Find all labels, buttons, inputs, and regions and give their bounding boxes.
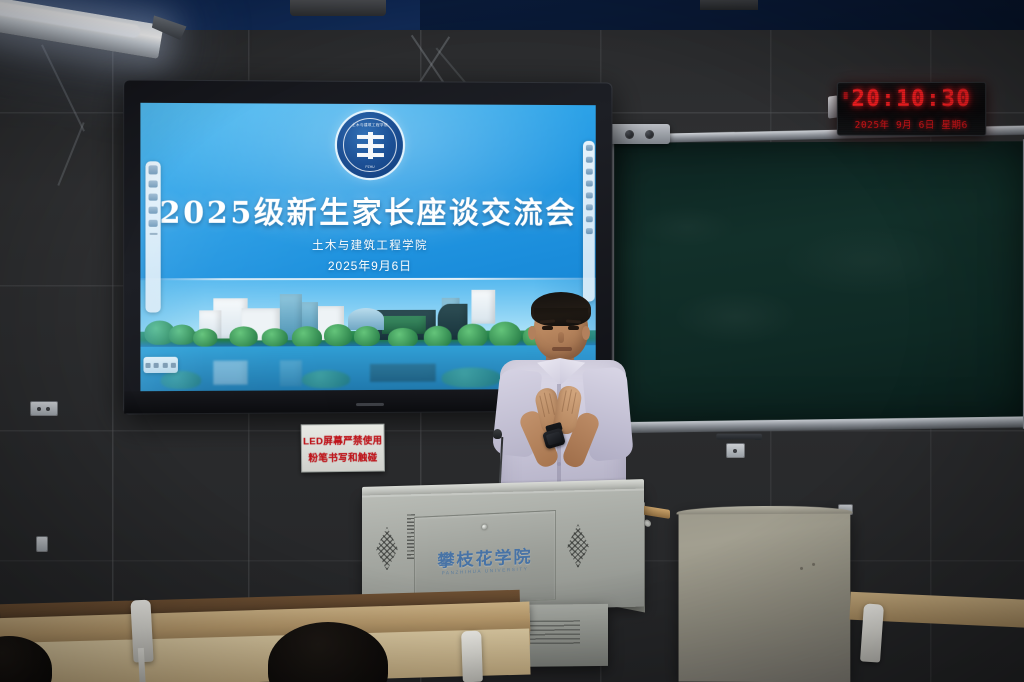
cabinet-vent (522, 620, 580, 647)
camera-lens-icon (645, 130, 654, 139)
camera-lens-icon (625, 130, 634, 139)
emblem-glyph-icon (357, 131, 384, 158)
side-pedestal (679, 511, 851, 682)
chalkboard-surface[interactable] (613, 141, 1024, 424)
led-screen-warning-sign: LED屏幕严禁使用 粉笔书写和触碰 (301, 424, 385, 473)
eye (568, 326, 579, 330)
menu-icon[interactable] (171, 362, 176, 367)
next-slide-icon[interactable] (162, 362, 167, 367)
eraser-icon[interactable] (585, 181, 592, 187)
wall-outlet[interactable] (36, 536, 48, 552)
chalk-tray-eraser[interactable] (716, 434, 762, 440)
play-icon[interactable] (154, 362, 159, 367)
zoom-icon[interactable] (585, 204, 592, 210)
slide-subtitle: 土木与建筑工程学院 (140, 237, 595, 253)
more-icon[interactable] (149, 233, 157, 235)
eraser-icon[interactable] (149, 180, 158, 187)
slide-title: 2025级新生家长座谈交流会 (140, 187, 595, 232)
chair-back[interactable] (461, 631, 483, 682)
chalk-dust (613, 141, 1024, 424)
ear (528, 326, 536, 340)
ceiling-camera-module (608, 124, 670, 144)
clock-date: 2025年 9月 6日 星期6 (838, 117, 985, 131)
port-icon[interactable] (644, 519, 651, 527)
undo-icon[interactable] (149, 207, 158, 214)
ceiling-mount (700, 0, 758, 10)
shape-icon[interactable] (149, 194, 158, 201)
pen-icon[interactable] (585, 157, 592, 163)
wall-outlet[interactable] (30, 401, 58, 416)
speaker-grille-left (376, 527, 398, 572)
warning-line-1: LED屏幕严禁使用 (303, 432, 383, 447)
wall-outlet[interactable] (726, 443, 745, 458)
emblem-sub-text: PZHU (352, 165, 388, 169)
clock-time: 20:10:30 (838, 86, 985, 112)
shirt-button (557, 462, 561, 466)
green-chalkboard (613, 141, 1024, 424)
slide-date: 2025年9月6日 (140, 257, 595, 274)
mouth (552, 347, 572, 351)
lock-icon[interactable] (482, 524, 487, 529)
ear (582, 326, 590, 340)
speaker-grille-right (567, 524, 589, 569)
cursor-icon[interactable] (585, 145, 592, 151)
display-brand-logo (356, 403, 384, 406)
shape-icon[interactable] (585, 192, 592, 198)
nose (558, 332, 564, 343)
ceiling-mount (290, 0, 386, 16)
trash-icon[interactable] (149, 220, 158, 227)
close-icon[interactable] (585, 228, 592, 234)
highlighter-icon[interactable] (585, 169, 592, 175)
slide-control-bar[interactable] (143, 357, 177, 373)
floating-annotation-toolbar-left[interactable] (145, 161, 160, 312)
capture-icon[interactable] (585, 216, 592, 222)
eye (542, 326, 553, 330)
chair-back[interactable] (860, 603, 884, 662)
pen-icon[interactable] (149, 165, 158, 174)
emblem-arc-text: 土木与建筑工程学院 (347, 119, 393, 131)
panzhihua-university-emblem: 土木与建筑工程学院 PZHU (337, 112, 403, 178)
microphone-head[interactable] (493, 429, 502, 439)
led-wall-clock: 20:10:30 2025年 9月 6日 星期6 (837, 82, 986, 136)
floating-annotation-toolbar-right[interactable] (583, 141, 595, 302)
classroom-scene: 20:10:30 2025年 9月 6日 星期6 土木与建筑工程学院 PZHU … (0, 0, 1024, 682)
prev-slide-icon[interactable] (145, 362, 150, 367)
warning-line-2: 粉笔书写和触碰 (308, 449, 377, 464)
